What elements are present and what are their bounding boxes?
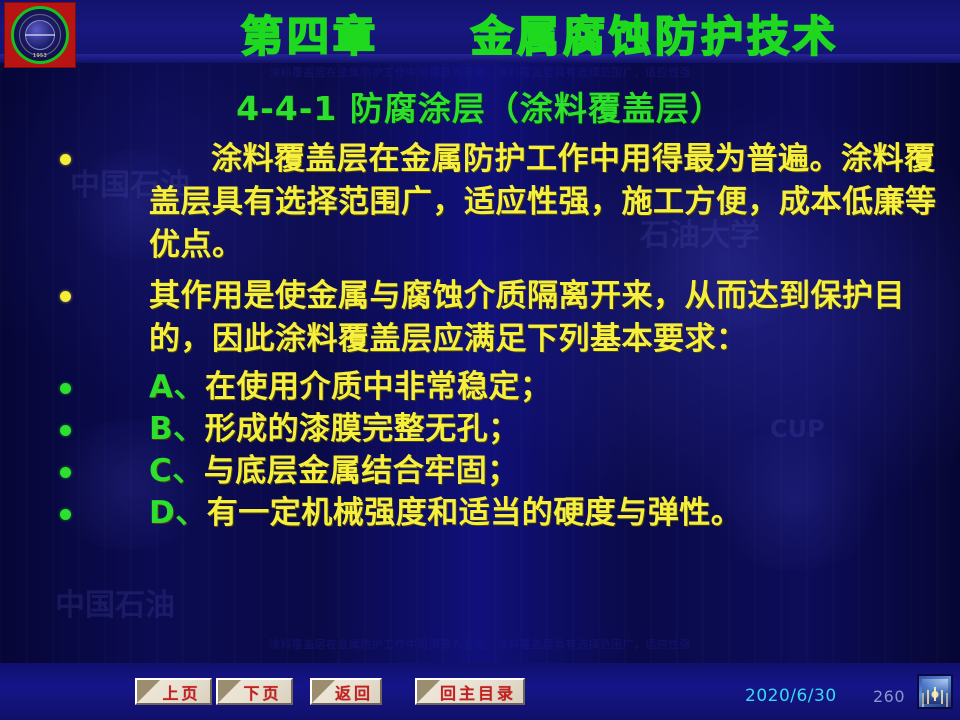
logo-year: 1953 (14, 53, 66, 59)
requirement-item-b: B、形成的漆膜完整无孔； (0, 409, 960, 449)
requirement-d-label: D、 (149, 495, 207, 531)
footer-page-number: 260 (873, 687, 905, 706)
requirement-b-text: B、形成的漆膜完整无孔； (149, 409, 520, 449)
requirement-d-text: D、有一定机械强度和适当的硬度与弹性。 (149, 493, 742, 533)
return-label: 返回 (319, 680, 373, 704)
requirement-b-content: 形成的漆膜完整无孔； (205, 411, 520, 447)
requirement-item-d: D、有一定机械强度和适当的硬度与弹性。 (0, 493, 960, 533)
bullet-paragraph-2: 其作用是使金属与腐蚀介质隔离开来，从而达到保护目的，因此涂料覆盖层应满足下列基本… (0, 275, 960, 361)
main-menu-label: 回主目录 (424, 680, 516, 704)
previous-page-label: 上页 (146, 680, 200, 704)
slide-body: 涂料覆盖层在金属防护工作中用得最为普遍。涂料覆盖层具有选择范围广，适应性强，施工… (0, 134, 960, 634)
requirement-item-a: A、在使用介质中非常稳定； (0, 367, 960, 407)
section-subtitle: 4-4-1 防腐涂层（涂料覆盖层） (0, 82, 960, 130)
previous-page-button[interactable]: 上页 (135, 678, 212, 705)
requirement-c-label: C、 (149, 453, 204, 489)
next-page-label: 下页 (227, 680, 281, 704)
main-menu-button[interactable]: 回主目录 (415, 678, 525, 705)
university-logo: 1953 (4, 2, 76, 68)
bullet-paragraph-1: 涂料覆盖层在金属防护工作中用得最为普遍。涂料覆盖层具有选择范围广，适应性强，施工… (0, 138, 960, 267)
requirement-c-content: 与底层金属结合牢固； (204, 453, 519, 489)
fountain-decoration-icon (917, 674, 953, 709)
bullet-dot-icon (60, 383, 71, 394)
logo-globe-icon (25, 20, 55, 50)
paragraph-1-text: 涂料覆盖层在金属防护工作中用得最为普遍。涂料覆盖层具有选择范围广，适应性强，施工… (149, 138, 939, 267)
requirement-a-label: A、 (149, 369, 205, 405)
footer-date: 2020/6/30 (745, 686, 837, 706)
ghost-text-top: 涂料覆盖层在金属防护工作中用得最为普遍。涂料覆盖层具有选择范围广，适应性强 (0, 64, 960, 84)
bullet-dot-icon (60, 154, 71, 165)
paragraph-1-content: 涂料覆盖层在金属防护工作中用得最为普遍。涂料覆盖层具有选择范围广，适应性强，施工… (149, 141, 937, 263)
requirement-item-c: C、与底层金属结合牢固； (0, 451, 960, 491)
return-button[interactable]: 返回 (310, 678, 382, 705)
bullet-dot-icon (60, 467, 71, 478)
requirement-d-content: 有一定机械强度和适当的硬度与弹性。 (207, 495, 743, 531)
slide-canvas: 中国石油 石油大学 CUP 中国石油 1953 第四章 金属腐蚀防护技术 涂料覆… (0, 0, 960, 720)
logo-ring: 1953 (11, 6, 69, 64)
page-title: 第四章 金属腐蚀防护技术 (160, 8, 920, 58)
bullet-dot-icon (60, 291, 71, 302)
next-page-button[interactable]: 下页 (216, 678, 293, 705)
bullet-dot-icon (60, 425, 71, 436)
requirement-a-content: 在使用介质中非常稳定； (205, 369, 552, 405)
requirement-b-label: B、 (149, 411, 205, 447)
ghost-text-bottom: 涂料覆盖层在金属防护工作中用得最为普遍。涂料覆盖层具有选择范围广，适应性强 (0, 636, 960, 656)
paragraph-2-text: 其作用是使金属与腐蚀介质隔离开来，从而达到保护目的，因此涂料覆盖层应满足下列基本… (149, 275, 939, 361)
requirement-a-text: A、在使用介质中非常稳定； (149, 367, 552, 407)
requirement-c-text: C、与底层金属结合牢固； (149, 451, 519, 491)
bullet-dot-icon (60, 509, 71, 520)
